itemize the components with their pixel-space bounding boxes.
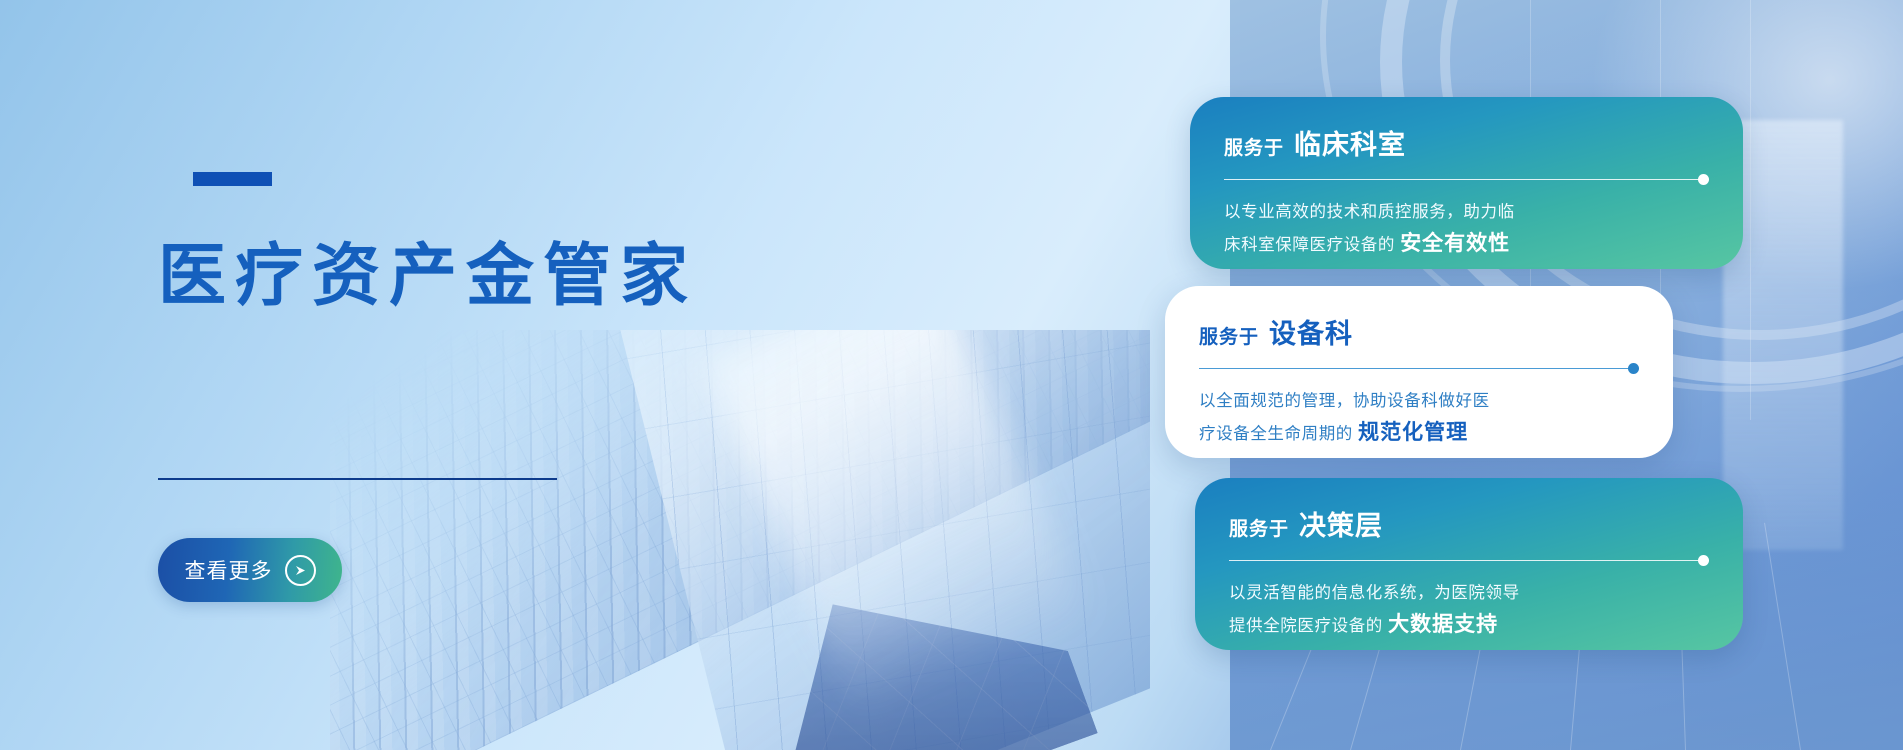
card-body: 以专业高效的技术和质控服务，助力临 床科室保障医疗设备的 安全有效性 [1224, 198, 1709, 262]
card-rule-dot-icon [1698, 174, 1709, 185]
card-heading: 服务于 设备科 [1199, 312, 1639, 351]
card-target: 决策层 [1299, 504, 1383, 543]
card-prefix: 服务于 [1229, 514, 1289, 541]
card-body-line-1: 以全面规范的管理，协助设备科做好医 [1199, 387, 1639, 415]
card-rule [1199, 363, 1639, 374]
card-heading: 服务于 临床科室 [1224, 123, 1709, 162]
card-heading: 服务于 决策层 [1229, 504, 1709, 543]
card-target: 设备科 [1269, 312, 1353, 351]
hero-banner: 医疗资产金管家 查看更多 服务于 临床科室 以专业高效的技术和质控服务，助力临 [0, 0, 1903, 750]
card-prefix: 服务于 [1199, 322, 1259, 349]
card-target: 临床科室 [1294, 123, 1406, 162]
card-body-plain: 疗设备全生命周期的 [1199, 425, 1353, 443]
card-body-emphasis: 安全有效性 [1400, 232, 1510, 255]
service-card-equipment[interactable]: 服务于 设备科 以全面规范的管理，协助设备科做好医 疗设备全生命周期的 规范化管… [1165, 286, 1673, 458]
card-body-line-1: 以专业高效的技术和质控服务，助力临 [1224, 198, 1709, 226]
card-body-plain: 提供全院医疗设备的 [1229, 617, 1383, 635]
card-body-line-2: 疗设备全生命周期的 规范化管理 [1199, 415, 1639, 451]
card-rule [1224, 174, 1709, 185]
card-body: 以灵活智能的信息化系统，为医院领导 提供全院医疗设备的 大数据支持 [1229, 579, 1709, 643]
card-rule-line [1229, 560, 1709, 561]
service-card-clinical[interactable]: 服务于 临床科室 以专业高效的技术和质控服务，助力临 床科室保障医疗设备的 安全… [1190, 97, 1743, 269]
card-rule-dot-icon [1628, 363, 1639, 374]
card-body-plain: 床科室保障医疗设备的 [1224, 236, 1395, 254]
card-rule [1229, 555, 1709, 566]
card-prefix: 服务于 [1224, 133, 1284, 160]
card-rule-line [1199, 368, 1639, 369]
card-body-line-2: 提供全院医疗设备的 大数据支持 [1229, 607, 1709, 643]
card-rule-line [1224, 179, 1709, 180]
card-body-emphasis: 大数据支持 [1388, 613, 1498, 636]
card-body-line-2: 床科室保障医疗设备的 安全有效性 [1224, 226, 1709, 262]
card-body: 以全面规范的管理，协助设备科做好医 疗设备全生命周期的 规范化管理 [1199, 387, 1639, 451]
card-rule-dot-icon [1698, 555, 1709, 566]
service-card-decision[interactable]: 服务于 决策层 以灵活智能的信息化系统，为医院领导 提供全院医疗设备的 大数据支… [1195, 478, 1743, 650]
service-cards: 服务于 临床科室 以专业高效的技术和质控服务，助力临 床科室保障医疗设备的 安全… [0, 0, 1903, 750]
card-body-emphasis: 规范化管理 [1358, 421, 1468, 444]
card-body-line-1: 以灵活智能的信息化系统，为医院领导 [1229, 579, 1709, 607]
